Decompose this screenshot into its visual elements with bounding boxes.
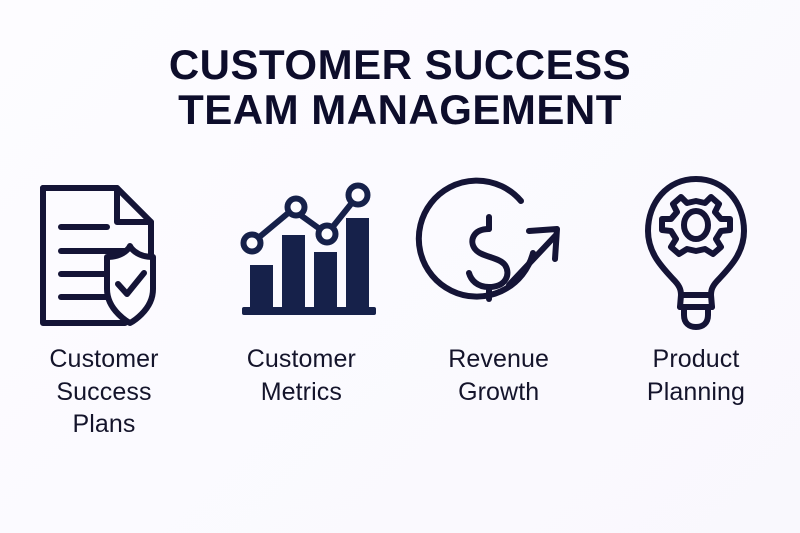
feature-card-label: Revenue Growth	[448, 343, 549, 408]
feature-card-label: Product Planning	[647, 343, 745, 408]
feature-card-customer-success-plans[interactable]: Customer Success Plans	[6, 168, 202, 441]
feature-card-row: Customer Success Plans	[0, 168, 800, 441]
feature-card-label: Customer Metrics	[247, 343, 356, 408]
feature-card-label: Customer Success Plans	[49, 343, 158, 441]
dollar-circle-arrow-up-icon	[419, 168, 579, 333]
page-title-line-1: CUSTOMER SUCCESS	[0, 42, 800, 87]
feature-card-customer-metrics[interactable]: Customer Metrics	[203, 168, 399, 408]
bar-chart-line-graph-icon	[221, 168, 381, 333]
page-title: CUSTOMER SUCCESS TEAM MANAGEMENT	[0, 42, 800, 133]
lightbulb-gear-icon	[616, 168, 776, 333]
page-title-line-2: TEAM MANAGEMENT	[0, 87, 800, 132]
feature-card-product-planning[interactable]: Product Planning	[598, 168, 794, 408]
slide-canvas: CUSTOMER SUCCESS TEAM MANAGEMENT	[0, 0, 800, 533]
feature-card-revenue-growth[interactable]: Revenue Growth	[401, 168, 597, 408]
document-shield-check-icon	[24, 168, 184, 333]
